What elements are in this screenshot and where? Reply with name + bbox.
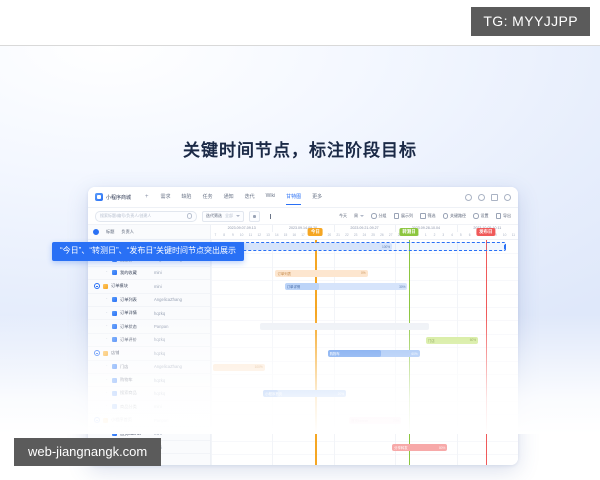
avatar-icon[interactable] (504, 194, 511, 201)
task-owner: Panpan (154, 418, 168, 423)
app-toolbar: 搜索标题/编号/负责人/创建人 迭代筛选 全部 今天 周 (88, 208, 518, 225)
expand-toggle-icon[interactable] (94, 283, 100, 289)
chevron-down-icon (236, 215, 240, 217)
gantt-bar-label: 门店 (428, 338, 435, 343)
row-bullet-icon: · (106, 404, 109, 409)
add-tab-button[interactable]: + (145, 194, 149, 200)
bell-icon[interactable] (491, 194, 498, 201)
task-type-icon (112, 404, 117, 409)
columns-button[interactable]: 展示列 (394, 213, 414, 219)
search-icon (187, 213, 193, 219)
app-body: 标题 负责人 ·收货地址Panpan·优惠券AngelicaZhang·我的收藏… (88, 225, 518, 465)
gantt-grid-row (211, 387, 518, 401)
zoom-scale-label: 周 (354, 213, 358, 219)
gantt-bar[interactable]: 门店60% (426, 337, 478, 344)
gear-icon (473, 213, 479, 219)
gantt-day-label: 4 (448, 232, 457, 239)
toolbar-right-group: 今天 周 分组 展示列 (339, 213, 511, 219)
task-name: 搜索商品 (120, 390, 137, 396)
search-icon[interactable] (465, 194, 472, 201)
folder-icon (103, 418, 108, 423)
task-owner: AngelicaZhang (154, 364, 182, 369)
task-owner: AngelicaZhang (154, 297, 182, 302)
search-input[interactable]: 搜索标题/编号/负责人/创建人 (95, 211, 197, 222)
tab-tasks[interactable]: 任务 (203, 193, 213, 202)
task-owner: mini (154, 404, 162, 409)
gantt-bar-progress-label: 0% (359, 271, 366, 275)
task-name: 首页banner (120, 431, 141, 437)
gantt-bar-progress-label: 60% (468, 338, 476, 342)
gantt-bar-progress-fill (328, 350, 381, 357)
gantt-bar[interactable]: 优惠券100% (229, 243, 392, 250)
iteration-filter-select[interactable]: 迭代筛选 全部 (202, 211, 244, 222)
gantt-day-label: 13 (264, 232, 273, 239)
gantt-day-label: 23 (351, 232, 360, 239)
row-bullet-icon: · (106, 391, 109, 396)
gantt-day-label: 22 (342, 232, 351, 239)
milestone-badge-test[interactable]: 转测日 (399, 228, 418, 236)
gantt-bar-progress-label: 60% (409, 352, 417, 356)
gantt-day-label: 6 (465, 232, 474, 239)
task-tree-row[interactable]: ·订单详情hqzkq (88, 307, 210, 320)
milestone-badge-today[interactable]: 今日 (308, 228, 323, 236)
gantt-day-label: 10 (237, 232, 246, 239)
gantt-day-label: 17 (299, 232, 308, 239)
task-type-icon (112, 337, 117, 342)
gantt-bar-label: 小程序首页 (265, 391, 282, 396)
more-options-button[interactable] (265, 211, 276, 222)
task-name: 订单评价 (120, 337, 137, 343)
grid-icon (253, 215, 256, 218)
task-tree-row[interactable]: ·商品分类mini (88, 401, 210, 414)
app-brand[interactable]: 小程序商城 (95, 193, 131, 201)
task-tree-row[interactable]: ·订单评价hqzkq (88, 334, 210, 347)
tab-gantt[interactable]: 甘特图 (286, 193, 301, 202)
app-logo-icon (95, 193, 103, 201)
gantt-bar-label: 订单详情 (287, 284, 301, 289)
task-owner: mini (154, 431, 162, 436)
gantt-day-label: 5 (456, 232, 465, 239)
column-header-owner: 负责人 (121, 229, 134, 235)
nav-tabs: 需求 缺陷 任务 通知 迭代 Wiki 甘特图 更多 (161, 193, 323, 202)
select-all-checkbox[interactable] (93, 229, 99, 235)
chevron-down-icon (360, 215, 364, 217)
gantt-day-label: 12 (255, 232, 264, 239)
expand-toggle-icon[interactable] (94, 417, 100, 423)
funnel-icon (420, 213, 426, 219)
task-tree-row[interactable]: ·我的收藏mini (88, 267, 210, 280)
gantt-grid-row (211, 253, 518, 267)
tg-watermark: TG: MYYJJPP (471, 7, 590, 36)
columns-icon (394, 213, 400, 219)
gantt-grid-row (211, 428, 518, 442)
gantt-day-label: 21 (334, 232, 343, 239)
task-type-icon (112, 364, 117, 369)
task-type-icon (112, 391, 117, 396)
task-name: 店铺 (111, 350, 119, 356)
gantt-bar[interactable]: 100% (213, 364, 265, 371)
task-name: 小程序首页 (111, 417, 132, 423)
gantt-bar[interactable]: 购物车60% (328, 350, 420, 357)
tab-notifications[interactable]: 通知 (224, 193, 234, 202)
gantt-grid-row (211, 441, 518, 455)
row-bullet-icon: · (106, 364, 109, 369)
tab-wiki[interactable]: Wiki (266, 193, 275, 201)
gantt-day-label: 16 (290, 232, 299, 239)
row-bullet-icon: · (106, 378, 109, 383)
row-bullet-icon: · (106, 297, 109, 302)
task-tree-pane: 标题 负责人 ·收货地址Panpan·优惠券AngelicaZhang·我的收藏… (88, 225, 211, 465)
callout-annotation: “今日”、“转测日”、“发布日”关键时间节点突出展示 (52, 242, 244, 261)
gantt-bar[interactable]: 首页banner70% (349, 417, 401, 424)
task-owner: hqzkq (154, 391, 165, 396)
slide-background: 关键时间节点，标注阶段目标 小程序商城 + 需求 缺陷 任务 通知 迭代 Wik… (0, 46, 600, 434)
task-tree-row[interactable]: ·订单状态Panpan (88, 320, 210, 333)
task-owner: hqzkq (154, 337, 165, 342)
gantt-week-label: 2023.09.07-09.13 (211, 225, 273, 232)
app-nav-bar: 小程序商城 + 需求 缺陷 任务 通知 迭代 Wiki 甘特图 更多 (88, 187, 518, 208)
group-button[interactable]: 分组 (371, 213, 387, 219)
critical-path-button[interactable]: 关键路径 (443, 213, 467, 219)
gantt-bar-progress-label: 100% (380, 245, 390, 249)
folder-icon (103, 284, 108, 289)
task-owner: Panpan (154, 324, 168, 329)
bars-icon (270, 214, 271, 219)
gantt-day-label: 27 (386, 232, 395, 239)
gantt-grid-row (211, 334, 518, 348)
gantt-bar[interactable] (260, 323, 429, 330)
gantt-day-label: 14 (272, 232, 281, 239)
gantt-day-label: 3 (439, 232, 448, 239)
iteration-filter-value: 全部 (225, 213, 233, 219)
task-owner: hqzkq (154, 351, 165, 356)
export-label: 导出 (503, 213, 511, 219)
gantt-day-label: 11 (509, 232, 518, 239)
row-bullet-icon: · (106, 270, 109, 275)
gantt-bar-progress-label: 100% (253, 365, 263, 369)
gantt-day-ticks: 7891011121314151617181920212223242526272… (211, 232, 518, 239)
gantt-week-label: 2023.09.21-09.27 (334, 225, 396, 232)
task-type-icon (112, 270, 117, 275)
task-tree-row[interactable]: 订单模块mini (88, 280, 210, 293)
task-owner: mini (154, 284, 162, 289)
expand-toggle-icon[interactable] (94, 350, 100, 356)
group-label: 分组 (379, 213, 387, 219)
tab-defects[interactable]: 缺陷 (182, 193, 192, 202)
slide-page: TG: MYYJJPP 关键时间节点，标注阶段目标 小程序商城 + 需求 缺陷 … (0, 0, 600, 480)
page-title: 关键时间节点，标注阶段目标 (0, 136, 600, 161)
gantt-bar[interactable]: 分享转发80% (392, 444, 447, 451)
milestone-line-test (409, 240, 410, 465)
gantt-day-label: 24 (360, 232, 369, 239)
gantt-bar[interactable]: 小程序首页20% (263, 390, 346, 397)
gantt-grid-row (211, 320, 518, 334)
task-owner: hqzkq (154, 311, 165, 316)
gantt-grid-row (211, 347, 518, 361)
gantt-chart-area[interactable]: 今日转测日发布日优惠券100%订单列表0%订单详情30%门店60%购物车60%1… (211, 240, 518, 465)
gantt-day-label: 2 (430, 232, 439, 239)
gantt-day-label: 25 (369, 232, 378, 239)
row-bullet-icon: · (106, 311, 109, 316)
task-tree-row[interactable]: 店铺hqzkq (88, 347, 210, 360)
path-icon (443, 213, 449, 219)
help-icon[interactable] (478, 194, 485, 201)
columns-label: 展示列 (401, 213, 413, 219)
gantt-day-label: 10 (500, 232, 509, 239)
gantt-grid-row (211, 361, 518, 375)
export-icon (496, 213, 502, 219)
gantt-day-label: 26 (378, 232, 387, 239)
task-tree-row[interactable]: ·订单列表AngelicaZhang (88, 294, 210, 307)
gantt-bar-progress-label: 30% (397, 285, 405, 289)
gantt-day-label: 11 (246, 232, 255, 239)
task-name: 订单状态 (120, 324, 137, 330)
tab-iterations[interactable]: 迭代 (245, 193, 255, 202)
gantt-day-label: 15 (281, 232, 290, 239)
task-name: 订单列表 (120, 297, 137, 303)
settings-button[interactable]: 设置 (473, 213, 489, 219)
gantt-pane: 7891011121314151617181920212223242526272… (211, 225, 518, 465)
task-type-icon (112, 431, 117, 436)
settings-label: 设置 (481, 213, 489, 219)
task-tree-row[interactable]: ·购物车hqzkq (88, 374, 210, 387)
critical-path-label: 关键路径 (450, 213, 466, 219)
tab-requirements[interactable]: 需求 (161, 193, 171, 202)
gantt-bar-progress-label: 20% (336, 392, 344, 396)
gantt-week-divider (272, 240, 273, 465)
row-bullet-icon: · (106, 337, 109, 342)
gantt-week-divider (457, 240, 458, 465)
tree-header: 标题 负责人 (88, 225, 210, 240)
task-name: 订单详情 (120, 310, 137, 316)
task-name: 购物车 (120, 377, 133, 383)
export-button[interactable]: 导出 (496, 213, 512, 219)
task-type-icon (112, 324, 117, 329)
selection-handle-right[interactable] (504, 244, 506, 249)
gantt-day-label: 20 (325, 232, 334, 239)
nav-icon-group (465, 194, 511, 201)
today-label: 今天 (339, 213, 347, 219)
gantt-bar-label: 首页banner (351, 418, 368, 423)
gantt-bar[interactable]: 订单列表0% (275, 270, 367, 277)
gantt-grid-row (211, 374, 518, 388)
filter-button[interactable]: 筛选 (420, 213, 436, 219)
row-bullet-icon: · (106, 431, 109, 436)
task-type-icon (112, 378, 117, 383)
folder-icon (103, 351, 108, 356)
gantt-day-label: 1 (421, 232, 430, 239)
task-tree-row[interactable]: 小程序首页Panpan (88, 414, 210, 427)
today-button[interactable]: 今天 (339, 213, 347, 219)
task-owner: hqzkq (154, 378, 165, 383)
gantt-bar-label: 订单列表 (277, 271, 291, 276)
gantt-grid-row (211, 414, 518, 428)
gantt-day-label: 8 (220, 232, 229, 239)
task-name: 我的收藏 (120, 270, 137, 276)
filter-label: 筛选 (428, 213, 436, 219)
app-brand-name: 小程序商城 (106, 194, 131, 201)
gantt-week-divider (211, 240, 212, 465)
task-tree-row[interactable]: ·门店AngelicaZhang (88, 361, 210, 374)
milestone-line-release (486, 240, 487, 465)
gantt-grid-row (211, 454, 518, 465)
gantt-day-label: 7 (211, 232, 220, 239)
search-placeholder: 搜索标题/编号/负责人/创建人 (100, 213, 151, 219)
task-owner: mini (154, 270, 162, 275)
gantt-bar[interactable]: 订单详情30% (285, 283, 408, 290)
iteration-filter-label: 迭代筛选 (206, 213, 222, 219)
gantt-grid-row (211, 307, 518, 321)
row-bullet-icon: · (106, 324, 109, 329)
site-watermark: web-jiangnangk.com (14, 438, 161, 466)
group-icon (371, 213, 377, 219)
view-toggle-button[interactable] (249, 211, 260, 222)
gantt-bar-label: 购物车 (330, 351, 340, 356)
task-name: 商品分类 (120, 404, 137, 410)
gantt-week-label: 2023.09.14-09.20 (272, 225, 334, 232)
zoom-scale-select[interactable]: 周 (354, 213, 364, 219)
task-type-icon (112, 311, 117, 316)
column-header-title: 标题 (106, 229, 114, 235)
task-type-icon (112, 297, 117, 302)
gantt-day-label: 9 (229, 232, 238, 239)
task-tree-row[interactable]: ·搜索商品hqzkq (88, 387, 210, 400)
gantt-grid-row (211, 401, 518, 415)
gantt-bar-label: 分享转发 (394, 445, 408, 450)
app-window: 小程序商城 + 需求 缺陷 任务 通知 迭代 Wiki 甘特图 更多 (88, 187, 518, 465)
gantt-timeline-header: 7891011121314151617181920212223242526272… (211, 225, 518, 240)
gantt-bar-progress-label: 70% (391, 419, 399, 423)
task-name: 订单模块 (111, 283, 128, 289)
gantt-grid-row (211, 294, 518, 308)
gantt-bar-progress-label: 80% (437, 446, 445, 450)
gantt-bar-progress-fill (263, 390, 278, 397)
tab-more[interactable]: 更多 (312, 193, 322, 202)
milestone-badge-release[interactable]: 发布日 (476, 228, 495, 236)
gantt-week-divider (395, 240, 396, 465)
task-name: 门店 (120, 364, 128, 370)
task-tree-rows: ·收货地址Panpan·优惠券AngelicaZhang·我的收藏mini订单模… (88, 240, 210, 454)
